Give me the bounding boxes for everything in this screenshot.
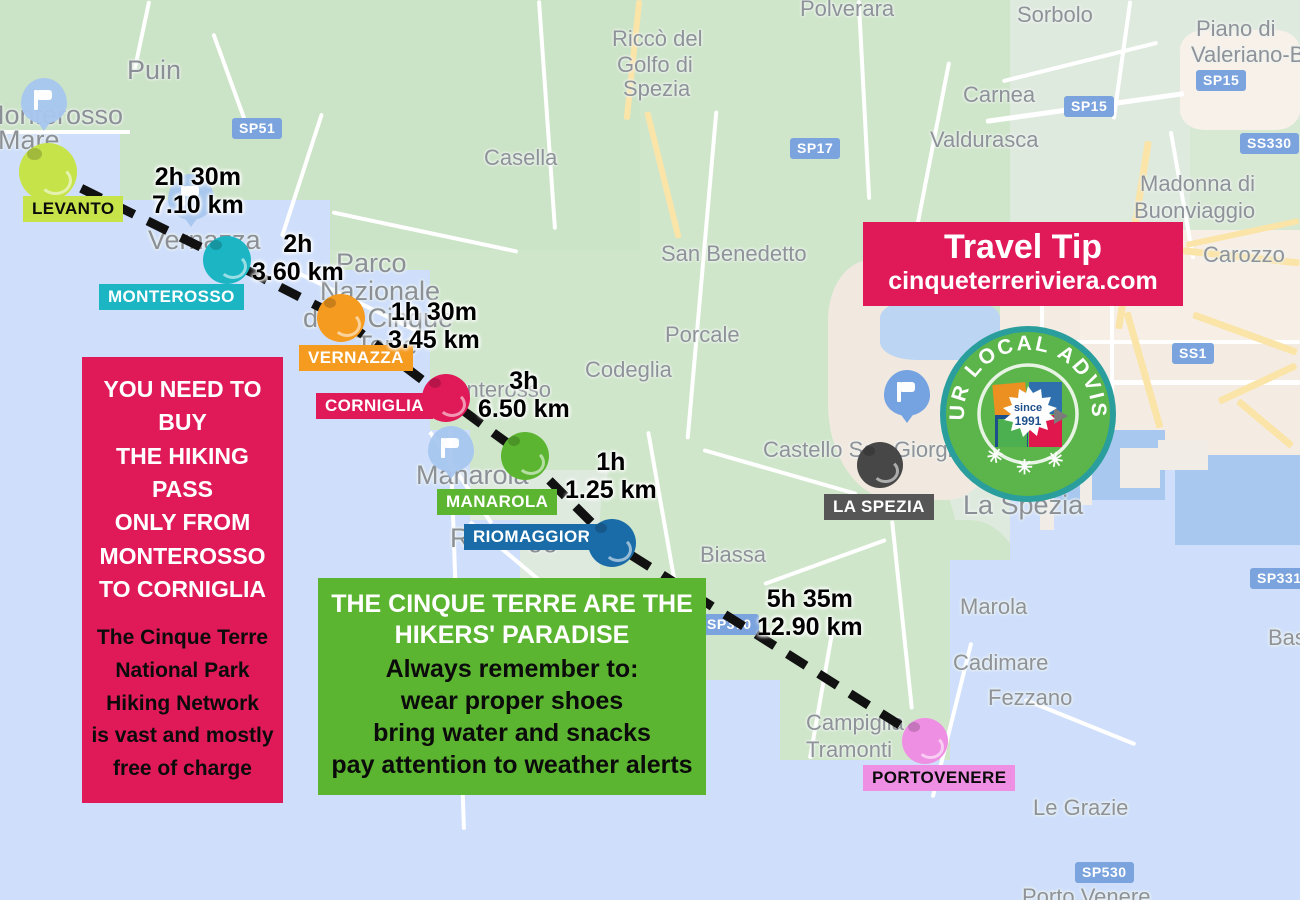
marker-highlight bbox=[333, 312, 361, 337]
flag-icon bbox=[34, 90, 38, 110]
your-local-advisor-badge[interactable]: since 1991 YOUR LOCAL ADVISOR ✳ ✳ ✳ bbox=[938, 324, 1118, 504]
segment-corniglia-to-manarola: 3h6.50 km bbox=[478, 367, 570, 423]
marker-shadow bbox=[210, 240, 222, 251]
marker-shadow bbox=[27, 148, 42, 161]
badge-year-label: 1991 bbox=[1015, 414, 1042, 428]
marker-shadow bbox=[908, 722, 920, 732]
segment-duration: 2h bbox=[252, 230, 344, 258]
monterosso-beach-pin[interactable] bbox=[21, 78, 67, 124]
town-label-manarola: MANAROLA bbox=[437, 489, 557, 515]
town-marker-riomaggiore[interactable] bbox=[588, 519, 636, 567]
segment-levanto-to-monterosso: 2h 30m7.10 km bbox=[152, 163, 244, 219]
map-label: Bastremoli bbox=[1268, 625, 1300, 651]
town-marker-monterosso[interactable] bbox=[203, 236, 251, 284]
town-label-portovenere: PORTOVENERE bbox=[863, 765, 1015, 791]
flag-icon bbox=[897, 382, 901, 402]
map-label: Buonviaggio bbox=[1134, 198, 1255, 224]
road-shield: SS330 bbox=[1240, 133, 1299, 154]
segment-distance: 12.90 km bbox=[757, 613, 863, 641]
marker-highlight bbox=[438, 392, 466, 417]
hikers-paradise-body: Always remember to:wear proper shoesbrin… bbox=[326, 653, 698, 781]
map-label: Tramonti bbox=[806, 737, 892, 763]
town-marker-portovenere[interactable] bbox=[902, 718, 948, 764]
map-label: Madonna di bbox=[1140, 171, 1255, 197]
manarola-park-pin[interactable] bbox=[428, 426, 474, 472]
map-label: Parco bbox=[336, 248, 407, 279]
segment-manarola-to-riomaggiore: 1h1.25 km bbox=[565, 448, 657, 504]
road-shield: SP530 bbox=[1075, 862, 1134, 883]
map-label: Campiglia bbox=[806, 710, 904, 736]
segment-distance: 1.25 km bbox=[565, 476, 657, 504]
map-label: Cadimare bbox=[953, 650, 1048, 676]
segment-distance: 6.50 km bbox=[478, 395, 570, 423]
marker-shadow bbox=[595, 523, 607, 534]
hikers-paradise-heading: THE CINQUE TERRE ARE THE HIKERS' PARADIS… bbox=[326, 589, 698, 652]
road-shield: SP15 bbox=[1064, 96, 1114, 117]
road-shield: SS1 bbox=[1172, 343, 1214, 364]
map-label: Valeriano-Bottagna bbox=[1191, 42, 1300, 68]
town-marker-vernazza[interactable] bbox=[317, 294, 365, 342]
marker-shadow bbox=[429, 378, 441, 389]
map-label: Le Grazie bbox=[1033, 795, 1128, 821]
map-label: Valdurasca bbox=[930, 127, 1038, 153]
segment-distance: 7.10 km bbox=[152, 191, 244, 219]
town-label-corniglia: CORNIGLIA bbox=[316, 393, 433, 419]
badge-since-label: since bbox=[1014, 402, 1042, 414]
map-label: Polverara bbox=[800, 0, 894, 22]
flag-icon bbox=[441, 438, 445, 458]
segment-duration: 2h 30m bbox=[152, 163, 244, 191]
town-label-la-spezia: LA SPEZIA bbox=[824, 494, 934, 520]
town-marker-corniglia[interactable] bbox=[422, 374, 470, 422]
map-label: Biassa bbox=[700, 542, 766, 568]
town-label-monterosso: MONTEROSSO bbox=[99, 284, 244, 310]
map-label: Carnea bbox=[963, 82, 1035, 108]
segment-distance: 3.45 km bbox=[388, 326, 480, 354]
map-label: Casella bbox=[484, 145, 557, 171]
segment-vernazza-to-corniglia: 1h 30m3.45 km bbox=[388, 298, 480, 354]
marker-shadow bbox=[863, 446, 875, 456]
hiking-pass-notice-body: The Cinque Terre National ParkHiking Net… bbox=[88, 622, 277, 785]
marker-highlight bbox=[917, 735, 944, 759]
road-shield: SP331 bbox=[1250, 568, 1300, 589]
la-spezia-pin[interactable] bbox=[884, 370, 930, 416]
hiking-pass-notice-heading: YOU NEED TO BUYTHE HIKING PASSONLY FROMM… bbox=[88, 373, 277, 606]
town-marker-la-spezia[interactable] bbox=[857, 442, 903, 488]
segment-duration: 3h bbox=[478, 367, 570, 395]
map-label: Porcale bbox=[665, 322, 740, 348]
marker-highlight bbox=[604, 537, 632, 562]
marker-shadow bbox=[324, 298, 336, 309]
hiking-pass-notice-box: YOU NEED TO BUYTHE HIKING PASSONLY FROMM… bbox=[82, 357, 283, 803]
map-label: Puin bbox=[127, 55, 181, 86]
segment-duration: 1h 30m bbox=[388, 298, 480, 326]
marker-highlight bbox=[872, 459, 899, 483]
travel-tip-banner: Travel Tip cinqueterreriviera.com bbox=[863, 222, 1183, 306]
map-label: Sorbolo bbox=[1017, 2, 1093, 28]
map-label: Porto Venere bbox=[1022, 884, 1150, 900]
segment-riomaggiore-to-portovenere: 5h 35m12.90 km bbox=[757, 585, 863, 641]
map-label: Golfo di bbox=[617, 52, 693, 78]
town-marker-manarola[interactable] bbox=[501, 432, 549, 480]
marker-shadow bbox=[508, 436, 520, 447]
road-shield: SP17 bbox=[790, 138, 840, 159]
town-label-levanto: LEVANTO bbox=[23, 196, 123, 222]
segment-duration: 5h 35m bbox=[757, 585, 863, 613]
travel-tip-website[interactable]: cinqueterreriviera.com bbox=[869, 267, 1177, 296]
map-infographic: PuinMonterossoMareVernazzaCasellaRiccò d… bbox=[0, 0, 1300, 900]
segment-duration: 1h bbox=[565, 448, 657, 476]
marker-highlight bbox=[39, 166, 72, 195]
marker-highlight bbox=[517, 450, 545, 475]
hikers-paradise-box: THE CINQUE TERRE ARE THE HIKERS' PARADIS… bbox=[318, 578, 706, 795]
map-label: Fezzano bbox=[988, 685, 1072, 711]
road-shield: SP15 bbox=[1196, 70, 1246, 91]
map-label: Spezia bbox=[623, 76, 690, 102]
map-label: Piano di bbox=[1196, 16, 1276, 42]
town-marker-levanto[interactable] bbox=[19, 143, 77, 201]
travel-tip-title: Travel Tip bbox=[869, 230, 1177, 266]
map-label: San Benedetto bbox=[661, 241, 807, 267]
map-label: Carozzo bbox=[1203, 242, 1285, 268]
segment-distance: 3.60 km bbox=[252, 258, 344, 286]
map-label: Riccò del bbox=[612, 26, 702, 52]
map-label: Marola bbox=[960, 594, 1027, 620]
map-label: Codeglia bbox=[585, 357, 672, 383]
road-shield: SP51 bbox=[232, 118, 282, 139]
marker-highlight bbox=[219, 254, 247, 279]
road-shield: SP370 bbox=[700, 614, 759, 635]
segment-monterosso-to-vernazza: 2h3.60 km bbox=[252, 230, 344, 286]
